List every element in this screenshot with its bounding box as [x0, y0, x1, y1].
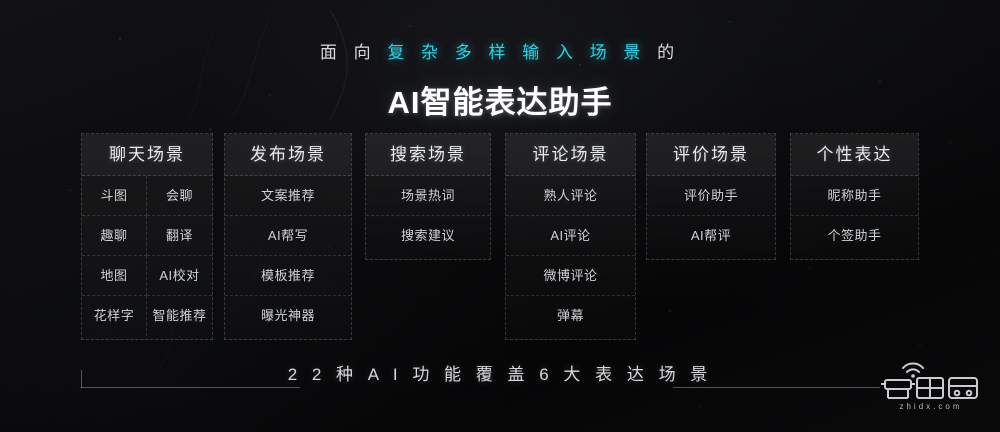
card-items: 场景热词 搜索建议	[366, 176, 490, 256]
card-items: 评价助手 AI帮评	[647, 176, 775, 256]
eyebrow-prefix: 面 向	[320, 43, 387, 62]
card-title: 发布场景	[225, 134, 351, 176]
card-items: 文案推荐 AI帮写 模板推荐 曝光神器	[225, 176, 351, 336]
card-items: 熟人评论 AI评论 微博评论 弹幕	[506, 176, 635, 336]
card-item[interactable]: 场景热词	[366, 176, 490, 216]
card-item[interactable]: AI帮评	[647, 216, 775, 256]
card-items: 斗图 会聊 趣聊 翻译 地图 AI校对 花样字 智能推荐	[82, 176, 212, 336]
card-item[interactable]: AI评论	[506, 216, 635, 256]
card-item[interactable]: 曝光神器	[225, 296, 351, 336]
card-item[interactable]: 智能推荐	[147, 296, 212, 336]
card-item[interactable]: 昵称助手	[791, 176, 918, 216]
logo-caption: zhidx.com	[879, 402, 983, 411]
zhidx-logo[interactable]: zhidx.com	[879, 356, 983, 418]
scenario-card-review[interactable]: 评价场景 评价助手 AI帮评	[646, 133, 776, 260]
card-item[interactable]: 弹幕	[506, 296, 635, 336]
logo-mark-icon	[879, 356, 983, 408]
card-item[interactable]: 熟人评论	[506, 176, 635, 216]
card-item[interactable]: 搜索建议	[366, 216, 490, 256]
card-item[interactable]: 微博评论	[506, 256, 635, 296]
card-item[interactable]: 花样字	[82, 296, 147, 336]
card-item[interactable]: 个签助手	[791, 216, 918, 256]
card-title: 聊天场景	[82, 134, 212, 176]
eyebrow-suffix: 的	[646, 43, 680, 62]
card-title: 个性表达	[791, 134, 918, 176]
footer-summary-text: 2 2 种 A I 功 能 覆 盖 6 大 表 达 场 景	[0, 362, 1000, 388]
card-item[interactable]: 模板推荐	[225, 256, 351, 296]
card-title: 搜索场景	[366, 134, 490, 176]
card-title: 评论场景	[506, 134, 635, 176]
card-items: 昵称助手 个签助手	[791, 176, 918, 256]
scenario-card-personal[interactable]: 个性表达 昵称助手 个签助手	[790, 133, 919, 260]
card-item[interactable]: 斗图	[82, 176, 147, 216]
page-title: AI智能表达助手	[0, 77, 1000, 122]
card-item[interactable]: 评价助手	[647, 176, 775, 216]
scenario-card-publish[interactable]: 发布场景 文案推荐 AI帮写 模板推荐 曝光神器	[224, 133, 352, 340]
card-item[interactable]: 会聊	[147, 176, 212, 216]
scenario-card-chat[interactable]: 聊天场景 斗图 会聊 趣聊 翻译 地图 AI校对 花样字 智能推荐	[81, 133, 213, 340]
eyebrow-highlight: 复 杂 多 样 输 入 场 景	[387, 43, 646, 62]
footer: 2 2 种 A I 功 能 覆 盖 6 大 表 达 场 景	[0, 362, 1000, 406]
card-item[interactable]: 文案推荐	[225, 176, 351, 216]
card-item[interactable]: AI校对	[147, 256, 212, 296]
card-item[interactable]: AI帮写	[225, 216, 351, 256]
header: 面 向 复 杂 多 样 输 入 场 景 的 AI智能表达助手	[0, 0, 1000, 122]
card-title: 评价场景	[647, 134, 775, 176]
card-item[interactable]: 趣聊	[82, 216, 147, 256]
eyebrow-line: 面 向 复 杂 多 样 输 入 场 景 的	[0, 38, 1000, 63]
card-item[interactable]: 翻译	[147, 216, 212, 256]
scenario-card-search[interactable]: 搜索场景 场景热词 搜索建议	[365, 133, 491, 260]
scenario-card-grid: 聊天场景 斗图 会聊 趣聊 翻译 地图 AI校对 花样字 智能推荐 发布场景 文…	[0, 133, 1000, 348]
card-item[interactable]: 地图	[82, 256, 147, 296]
scenario-card-comment[interactable]: 评论场景 熟人评论 AI评论 微博评论 弹幕	[505, 133, 636, 340]
